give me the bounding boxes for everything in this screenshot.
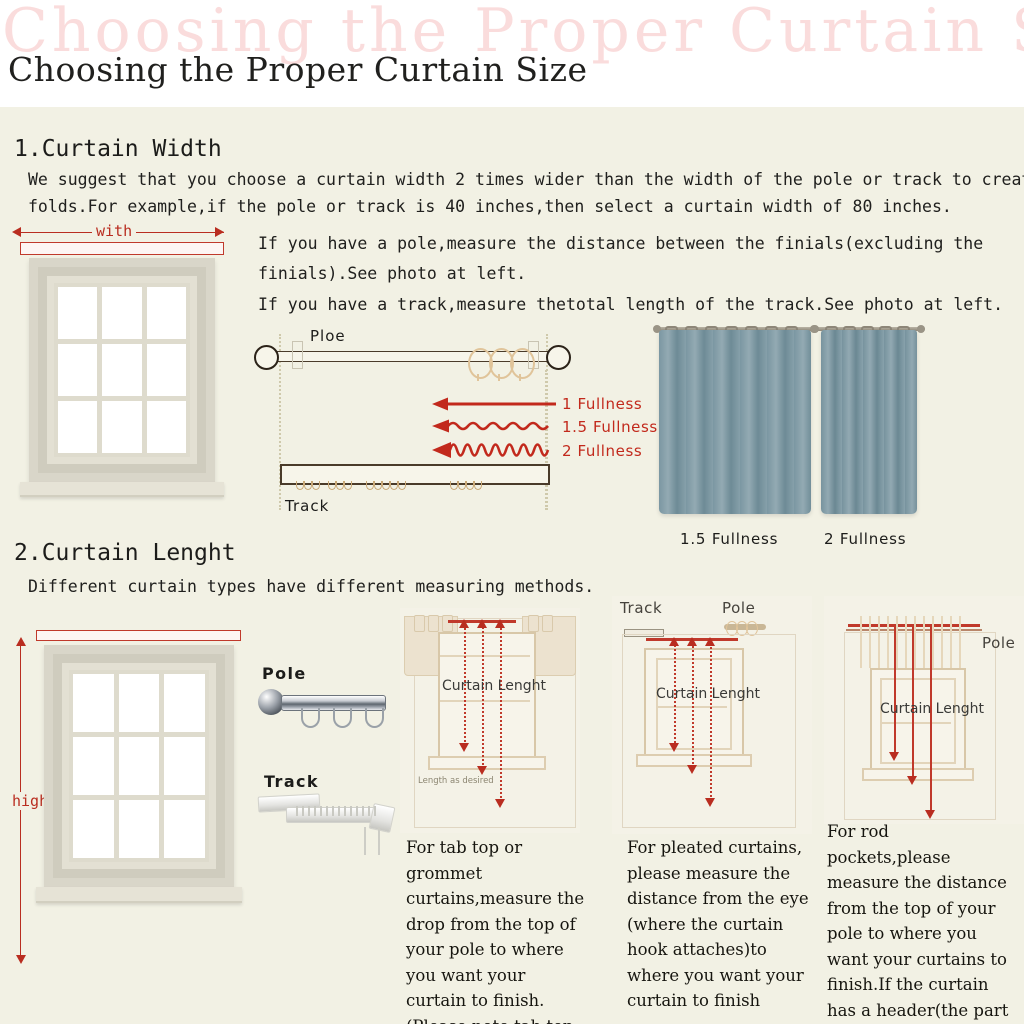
tab-loop-icon [442,615,453,632]
length-arrow-mid-head [477,766,487,775]
curtain-photo-1.5 [653,318,818,523]
window-sill [20,482,224,497]
length-arrow-long-head [495,799,505,808]
length-arrow-long-tail [705,637,715,646]
curtain-fabric [821,330,917,514]
length-arrow-mid-tail [477,619,487,628]
track-hook-icon [458,481,466,490]
window-pane [73,800,114,858]
window-pane [102,344,141,396]
window-pane [102,287,141,339]
fullness-line-1 [432,396,556,412]
length-arrow-long [500,624,502,802]
window-pane [58,401,97,453]
tab-loop-icon [542,615,553,632]
photo-rod-cap-left [811,325,819,333]
length-diagram-pleated: Track Pole Curtain Lenght [612,596,812,834]
fullness-label-1: 1 Fullness [562,395,642,413]
length-arrow-mid-head [687,765,697,774]
window-pane [164,800,205,858]
section2-intro: Different curtain types have different m… [28,572,594,601]
window-pane [119,800,160,858]
diagram-window-frame [438,632,536,761]
window-pane [147,287,186,339]
tab-loop-icon [428,615,439,632]
length-arrow-short-tail [669,637,679,646]
pole-finial-right-icon [546,345,571,370]
tab-loop-icon [414,615,425,632]
length-arrow-mid-head [907,776,917,785]
diagram3-label-pole: Pole [982,634,1015,652]
track-hook-icon [398,481,406,490]
diagram-window-sill [428,756,546,770]
window-inner-frame [47,276,197,464]
diagram-window-mullion [881,722,951,724]
track-cord [378,827,380,855]
length-arrow-short-head [669,743,679,752]
length-arrow-mid-tail [687,637,697,646]
caption-rod-pocket: For rod pockets,please measure the dista… [827,819,1013,1024]
schematic-pole-label: Ploe [310,327,346,345]
track-hook-icon [390,481,398,490]
diagram2-label-pole: Pole [722,599,755,617]
window-panes [69,670,209,862]
section1-note-line-2: finials).See photo at left. [258,259,526,288]
window-pane [119,674,160,732]
track-hook-icon [344,481,352,490]
caption-tab-top: For tab top or grommet curtains,measure … [406,835,588,1024]
page-title: Choosing the Proper Curtain Size [8,50,587,89]
curtain-ring-stem [477,374,479,381]
track-hook-icon [366,481,374,490]
window-pane [58,344,97,396]
height-curtain-bar [36,630,241,641]
curtain-photo-2 [805,318,925,523]
length-diagram-rod-pocket: Pole Curtain Lenght [824,596,1024,824]
track-glide-row [296,806,376,816]
fullness-line-3 [432,438,556,462]
length-arrow-long [930,627,932,813]
tab-loop-icon [528,615,539,632]
curtain-photo-caption-2: 2 Fullness [824,530,906,548]
window-pane [58,287,97,339]
width-curtain-bar [20,242,224,255]
pole-ring-icon [301,708,320,728]
header-band: Choosing the Proper Curtain Size Choosin… [0,0,1024,107]
length-arrow-short [894,627,896,755]
track-hook-icon [336,481,344,490]
fullness-label-3: 2 Fullness [562,442,642,460]
length-arrow-long [710,642,712,801]
curtain-ring-icon [510,348,535,379]
schematic-track-label: Track [285,497,329,515]
track-hook-icon [382,481,390,490]
pole-finial-left-icon [254,345,279,370]
window-pane [164,737,205,795]
photo-rod-cap-right [917,325,925,333]
infographic-page: Choosing the Proper Curtain Size Choosin… [0,0,1024,1024]
track-hook-icon [474,481,482,490]
length-arrow-short-head [459,743,469,752]
curtain-ring-stem [519,374,521,381]
diagram-note-1: Length as desired [418,776,494,786]
diagram-window-mullion [440,655,530,657]
track-hook-icon [296,481,304,490]
fullness-line-2 [432,417,556,435]
diagram-center-label-3: Curtain Lenght [880,701,984,717]
section1-note-line-1: If you have a pole,measure the distance … [258,229,983,258]
width-label: with [92,222,136,240]
section1-intro-line-2: folds.For example,if the pole or track i… [28,192,952,221]
length-arrow-short-tail [459,619,469,628]
track-cord [364,827,366,855]
length-arrow-mid [692,642,694,768]
fullness-label-2: 1.5 Fullness [562,418,658,436]
track-hook-icon [466,481,474,490]
track-hook-icon [312,481,320,490]
height-arrow-head-top [16,637,26,646]
track-hook-icon [374,481,382,490]
window-illustration-width [29,258,215,482]
window-pane [119,737,160,795]
length-arrow-short-head [889,752,899,761]
length-arrow-mid [482,624,484,769]
window-sill [36,887,242,903]
curtain-ring-stem [498,374,500,381]
diagram-window-mullion [440,700,530,702]
track-bar [280,464,550,485]
pole-bracket-left-icon [292,341,303,369]
window-pane [73,674,114,732]
window-pane [164,674,205,732]
diagram-center-label-1: Curtain Lenght [442,678,546,694]
section2-heading: 2.Curtain Lenght [14,540,236,566]
length-arrow-long-tail [495,619,505,628]
track-hook-icon [304,481,312,490]
width-arrow-head-left [12,227,21,237]
height-arrow-head-bottom [16,955,26,964]
width-arrow-head-right [215,227,224,237]
length-diagram-tab-top: Curtain Lenght Length as desired [400,608,580,833]
length-arrow-long-head [925,810,935,819]
window-illustration-height [44,645,234,887]
curtain-fabric [659,330,811,514]
window-pane [73,737,114,795]
caption-pleated: For pleated curtains, please measure the… [627,835,811,1014]
track-hook-icon [450,481,458,490]
pole-ring-icon [333,708,352,728]
section1-note-line-3: If you have a track,measure thetotal len… [258,290,1003,319]
section1-intro-line-1: We suggest that you choose a curtain wid… [28,165,1024,194]
length-arrow-long-head [705,798,715,807]
track-hook-icon [328,481,336,490]
diagram-window-inner [656,658,732,750]
section1-heading: 1.Curtain Width [14,136,222,162]
window-inner-frame [62,663,216,869]
hardware-label-track: Track [264,772,319,791]
curtain-photo-caption-1: 1.5 Fullness [680,530,778,548]
window-panes [54,283,190,457]
pole-ring-icon [365,708,384,728]
hardware-label-pole: Pole [262,664,307,683]
diagram-center-label-2: Curtain Lenght [656,686,760,702]
window-pane [147,401,186,453]
diagram-window-sill [862,768,974,781]
window-pane [147,344,186,396]
window-pane [102,401,141,453]
diagram2-label-track: Track [620,599,662,617]
